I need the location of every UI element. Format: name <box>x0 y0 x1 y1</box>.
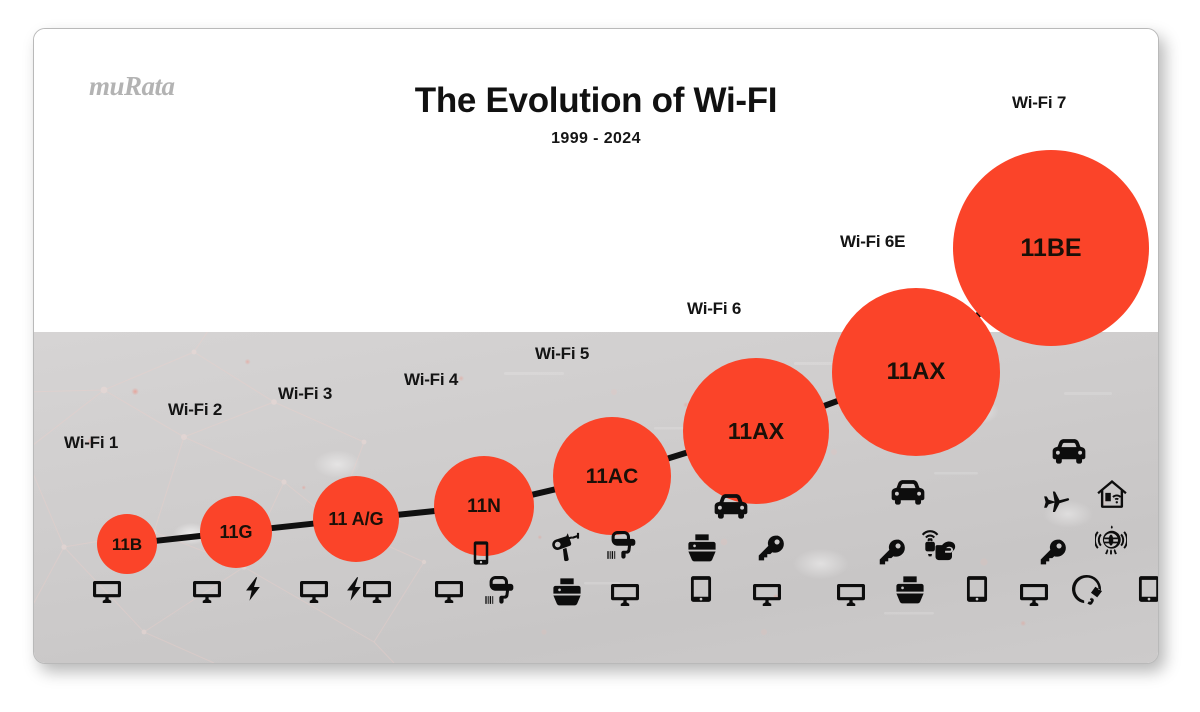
airplane-icon <box>1040 484 1070 514</box>
printer-icon <box>686 532 718 564</box>
monitor-icon <box>610 580 640 610</box>
tablet-icon <box>963 575 991 603</box>
monitor-icon <box>434 577 464 607</box>
key-icon <box>757 534 785 562</box>
security-camera-icon <box>552 531 584 563</box>
tablet-icon <box>1135 575 1159 603</box>
generation-label-7: Wi-Fi 6E <box>840 232 905 252</box>
barcode-scanner-icon <box>484 574 516 606</box>
generation-label-6: Wi-Fi 6 <box>687 299 741 319</box>
lightning-bolt-icon <box>240 576 266 602</box>
car-icon <box>890 474 926 510</box>
monitor-icon <box>836 580 866 610</box>
wifi-node-1[interactable]: 11B <box>97 514 157 574</box>
monitor-icon <box>299 577 329 607</box>
monitor-icon <box>92 577 122 607</box>
wifi-node-5[interactable]: 11AC <box>553 417 671 535</box>
generation-label-2: Wi-Fi 2 <box>168 400 222 420</box>
wifi-node-8[interactable]: 11BE <box>953 150 1149 346</box>
monitor-icon <box>362 577 392 607</box>
globe-antenna-icon <box>1095 524 1127 556</box>
wifi-node-7[interactable]: 11AX <box>832 288 1000 456</box>
poster-card: muRata The Evolution of Wi-FI 1999 - 202… <box>33 28 1159 664</box>
generation-label-5: Wi-Fi 5 <box>535 344 589 364</box>
connector-1 <box>154 536 203 541</box>
wifi-node-6[interactable]: 11AX <box>683 358 829 504</box>
generation-label-3: Wi-Fi 3 <box>278 384 332 404</box>
connector-4 <box>530 489 558 495</box>
smartphone-icon <box>468 540 494 566</box>
wifi-node-2[interactable]: 11G <box>200 496 272 568</box>
car-icon <box>1051 433 1087 469</box>
printer-icon <box>894 574 926 606</box>
monitor-icon <box>192 577 222 607</box>
smart-home-icon <box>1096 478 1128 510</box>
connector-2 <box>269 523 316 528</box>
wifi-node-3[interactable]: 11 A/G <box>313 476 399 562</box>
tablet-icon <box>687 575 715 603</box>
key-icon <box>878 538 906 566</box>
printer-icon <box>551 576 583 608</box>
generation-label-1: Wi-Fi 1 <box>64 433 118 453</box>
car-icon <box>713 488 749 524</box>
wifi-timeline: Wi-Fi 111BWi-Fi 211GWi-Fi 311 A/GWi-Fi 4… <box>34 29 1158 663</box>
monitor-icon <box>752 580 782 610</box>
monitor-icon <box>1019 580 1049 610</box>
barcode-scanner-icon <box>606 529 638 561</box>
connector-3 <box>396 511 437 515</box>
vr-headset-icon <box>1070 573 1104 607</box>
generation-label-8: Wi-Fi 7 <box>1012 93 1066 113</box>
smartwatch-wifi-icon <box>922 528 958 564</box>
generation-label-4: Wi-Fi 4 <box>404 370 458 390</box>
key-icon <box>1039 538 1067 566</box>
